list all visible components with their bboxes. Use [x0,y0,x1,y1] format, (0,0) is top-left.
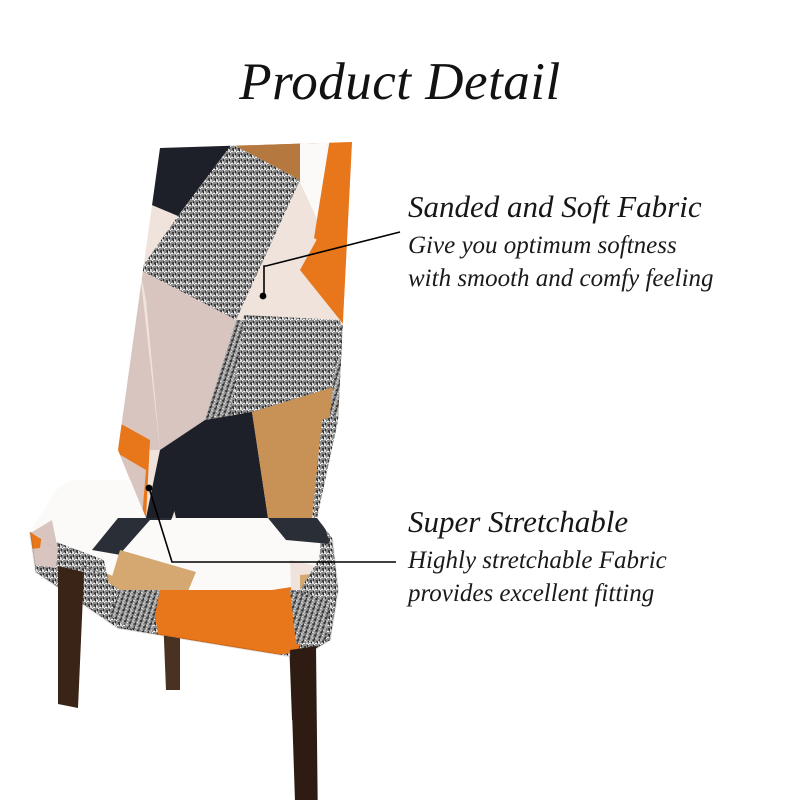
callout-body-line: provides excellent fitting [408,577,667,610]
page-title: Product Detail [0,52,800,112]
chair-back-fabric [100,130,370,530]
callout-body: Highly stretchable Fabric provides excel… [408,544,667,610]
callout-body: Give you optimum softness with smooth an… [408,229,714,295]
chair-product-image [0,120,400,800]
callout-heading: Super Stretchable [408,505,667,539]
callout-body-line: with smooth and comfy feeling [408,262,714,295]
callout-body-line: Give you optimum softness [408,229,714,262]
callout-super-stretchable: Super Stretchable Highly stretchable Fab… [408,505,667,610]
callout-body-line: Highly stretchable Fabric [408,544,667,577]
product-detail-page: Product Detail [0,0,800,800]
callout-heading: Sanded and Soft Fabric [408,190,714,224]
callout-sanded-soft-fabric: Sanded and Soft Fabric Give you optimum … [408,190,714,295]
